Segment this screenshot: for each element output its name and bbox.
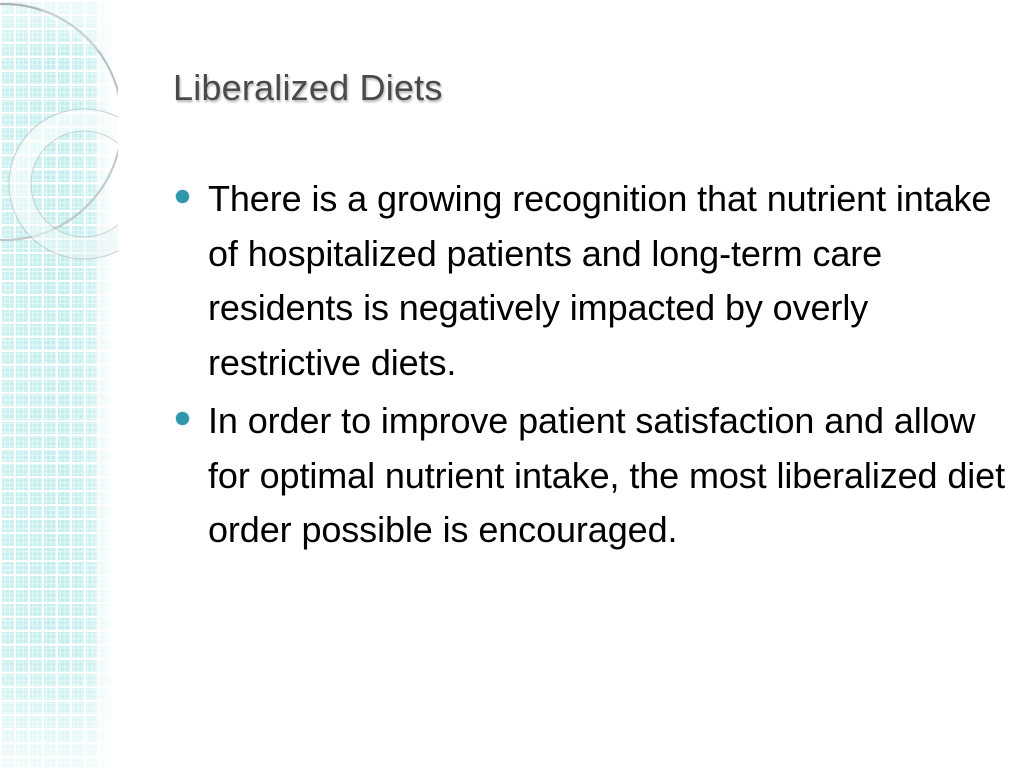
bullet-dot-icon [176,190,189,203]
list-item: There is a growing recognition that nutr… [176,172,1006,390]
bullet-dot-icon [176,412,189,425]
bullet-list: There is a growing recognition that nutr… [176,172,1006,562]
band-right-edge-fade [92,0,118,768]
slide-canvas: Liberalized Diets There is a growing rec… [0,0,1024,768]
bullet-marker [176,172,208,203]
decorative-sidebar-band [0,0,118,768]
slide-title: Liberalized Diets [173,66,973,110]
list-item: In order to improve patient satisfaction… [176,394,1006,558]
bullet-text: There is a growing recognition that nutr… [208,172,1006,390]
bullet-marker [176,394,208,425]
bullet-text: In order to improve patient satisfaction… [208,394,1006,558]
